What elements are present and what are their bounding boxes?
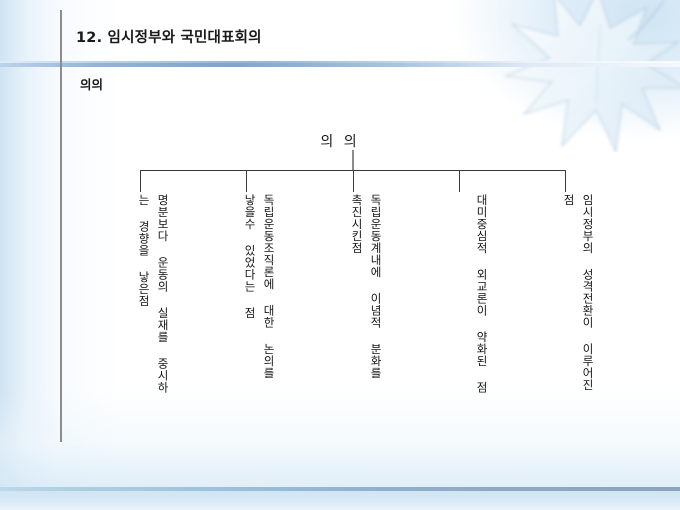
diagram-branch-5: 임시정부의 성격전환이 이루어진 점 (537, 194, 597, 404)
diagram-connector-5 (565, 170, 566, 192)
tree-diagram: 의 의 명분보다 운동의 실재를 중시하는 경향을 낳은점 독립운동조직론에 대… (0, 0, 680, 510)
presentation-slide: 12. 임시정부와 국민대표회의 의의 의 의 명분보다 운동의 실재를 중시하… (0, 0, 680, 510)
diagram-root-stem (352, 150, 354, 171)
diagram-connector-4 (459, 170, 460, 192)
diagram-branch-4: 대미중심적 외교론이 약화된 점 (431, 194, 491, 404)
diagram-connector-3 (353, 170, 354, 192)
diagram-branch-1: 명분보다 운동의 실재를 중시하는 경향을 낳은점 (112, 194, 172, 404)
diagram-connector-1 (140, 170, 141, 192)
diagram-connector-2 (246, 170, 247, 192)
diagram-branch-3: 독립운동계내에 이념적 분화를 촉진시킨점 (325, 194, 385, 404)
bottom-gradient-strip (0, 491, 680, 510)
diagram-root-label: 의 의 (0, 131, 680, 151)
diagram-branch-2: 독립운동조직론에 대한 논의를 낳을수 있었다는 점 (218, 194, 278, 404)
